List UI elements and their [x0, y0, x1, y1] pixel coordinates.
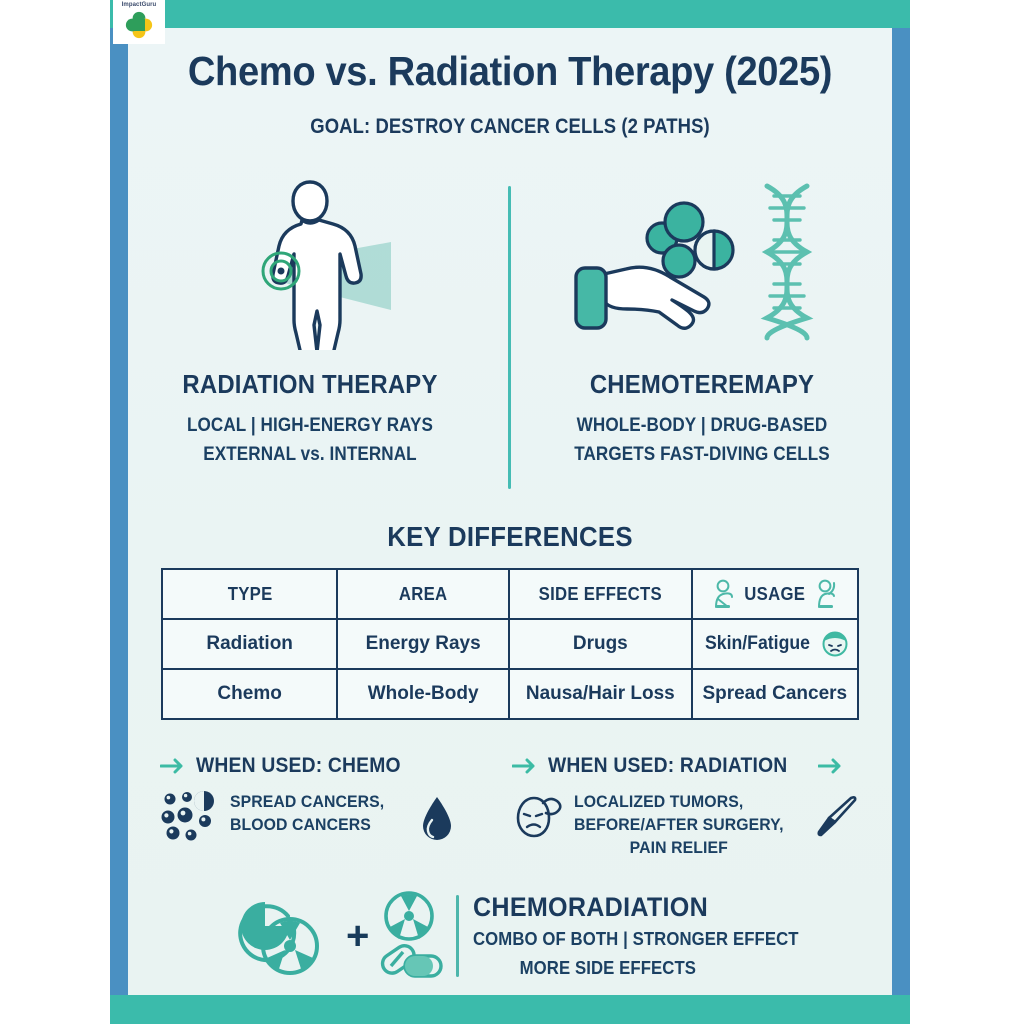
column-header-usage-label: USAGE	[744, 584, 805, 605]
sad-face-tumor-icon	[512, 790, 564, 842]
cell-usage-chemo: Spread Cancers	[692, 669, 858, 719]
column-header-area: AREA	[337, 569, 509, 619]
page-subtitle: GOAL: DESTROY CANCER CELLS (2 PATHS)	[174, 115, 846, 139]
cell-area-radiation: Energy Rays	[337, 619, 509, 669]
radiation-target-icon	[232, 894, 340, 978]
when-used-radiation-body: LOCALIZED TUMORS, BEFORE/AFTER SURGERY, …	[512, 790, 882, 859]
key-differences-table: TYPE AREA SIDE EFFECTS USAGE	[161, 568, 859, 720]
key-differences-title: KEY DIFFERENCES	[159, 521, 862, 553]
table-row: Chemo Whole-Body Nausa/Hair Loss Spread …	[162, 669, 858, 719]
when-used-radiation-lines: LOCALIZED TUMORS, BEFORE/AFTER SURGERY, …	[574, 790, 784, 859]
sad-face-icon	[821, 630, 849, 658]
when-used-chemo-heading-text: WHEN USED: CHEMO	[196, 754, 401, 778]
cell-side-effects-radiation: Drugs	[509, 619, 692, 669]
page-title: Chemo vs. Radiation Therapy (2025)	[155, 48, 866, 95]
radiation-line-1: LOCAL | HIGH-ENERGY RAYS	[148, 411, 472, 440]
poster-canvas: ImpactGuru Chemo vs. Radiation Therapy (…	[0, 0, 1024, 1024]
when-used-chemo-block: WHEN USED: CHEMO SPREAD CANCERS, BLOOD C…	[160, 754, 510, 844]
when-used-radiation-line-2: BEFORE/AFTER SURGERY,	[574, 815, 784, 834]
person-sitting-icon	[711, 579, 735, 609]
when-used-chemo-lines: SPREAD CANCERS, BLOOD CANCERS	[230, 790, 384, 836]
brand-logo-text: ImpactGuru	[122, 2, 157, 9]
chemoradiation-divider	[456, 895, 459, 977]
blood-drop-icon	[420, 794, 454, 844]
column-header-usage: USAGE	[692, 569, 858, 619]
right-blue-rail	[892, 28, 910, 995]
column-header-side-effects: SIDE EFFECTS	[509, 569, 692, 619]
pills-icon	[379, 942, 441, 977]
cell-type-chemo: Chemo	[162, 669, 337, 719]
when-used-radiation-line-1: LOCALIZED TUMORS,	[574, 792, 743, 811]
column-divider	[508, 186, 511, 489]
chemoradiation-block: + CHEMORADIATION COMBO OF BOTH | STRONGE…	[232, 890, 832, 982]
when-used-chemo-heading: WHEN USED: CHEMO	[160, 754, 510, 778]
column-header-side-effects-label: SIDE EFFECTS	[539, 584, 662, 605]
bottom-teal-band	[110, 995, 910, 1024]
column-header-type-label: TYPE	[227, 584, 272, 605]
scalpel-icon	[817, 796, 861, 842]
radiation-symbol-icon	[375, 890, 445, 982]
when-used-chemo-line-2: BLOOD CANCERS	[230, 815, 371, 834]
hand-pills-dna-icon	[522, 165, 882, 355]
chemo-line-2: TARGETS FAST-DIVING CELLS	[540, 440, 864, 469]
table-row: Radiation Energy Rays Drugs Skin/Fatigue	[162, 619, 858, 669]
cell-usage-radiation: Skin/Fatigue	[692, 619, 858, 669]
cancer-cells-icon	[160, 790, 220, 844]
body-radiation-beam-icon	[130, 165, 490, 355]
chemoradiation-icons: +	[232, 890, 450, 982]
chemoradiation-line-2: MORE SIDE EFFECTS	[473, 956, 743, 981]
table-header-row: TYPE AREA SIDE EFFECTS USAGE	[162, 569, 858, 619]
chemoradiation-line-1: COMBO OF BOTH | STRONGER EFFECT	[473, 927, 807, 952]
plus-symbol: +	[346, 916, 369, 956]
when-used-chemo-body: SPREAD CANCERS, BLOOD CANCERS	[160, 790, 510, 844]
column-header-type: TYPE	[162, 569, 337, 619]
column-header-area-label: AREA	[399, 584, 448, 605]
cell-side-effects-chemo: Nausa/Hair Loss	[509, 669, 692, 719]
cell-area-chemo: Whole-Body	[337, 669, 509, 719]
chemo-description: WHOLE-BODY | DRUG-BASED TARGETS FAST-DIV…	[522, 411, 882, 469]
brand-logo: ImpactGuru	[113, 0, 165, 44]
radiation-heading: RADIATION THERAPY	[144, 369, 475, 400]
chemo-line-1: WHOLE-BODY | DRUG-BASED	[540, 411, 864, 440]
cell-usage-radiation-label: Skin/Fatigue	[705, 633, 810, 655]
radiation-description: LOCAL | HIGH-ENERGY RAYS EXTERNAL vs. IN…	[130, 411, 490, 469]
radiation-line-2: EXTERNAL vs. INTERNAL	[148, 440, 472, 469]
arrow-right-icon	[818, 758, 844, 774]
when-used-radiation-heading: WHEN USED: RADIATION	[512, 754, 882, 778]
when-used-radiation-line-3: PAIN RELIEF	[574, 836, 784, 859]
comparison-column-radiation: RADIATION THERAPY LOCAL | HIGH-ENERGY RA…	[130, 165, 490, 469]
arrow-right-icon	[512, 758, 538, 774]
when-used-radiation-heading-text: WHEN USED: RADIATION	[548, 754, 787, 778]
arrow-right-icon	[160, 758, 186, 774]
chemo-heading: CHEMOTEREMAPY	[536, 369, 867, 400]
left-blue-rail	[110, 28, 128, 995]
comparison-column-chemo: CHEMOTEREMAPY WHOLE-BODY | DRUG-BASED TA…	[522, 165, 882, 469]
chemoradiation-heading: CHEMORADIATION	[473, 892, 807, 923]
when-used-radiation-block: WHEN USED: RADIATION LOCALIZED TUMORS, B…	[512, 754, 882, 859]
when-used-chemo-line-1: SPREAD CANCERS,	[230, 792, 384, 811]
top-teal-band	[110, 0, 910, 28]
cross-plus-logo-icon	[124, 10, 154, 40]
cell-type-radiation: Radiation	[162, 619, 337, 669]
chemoradiation-text: CHEMORADIATION COMBO OF BOTH | STRONGER …	[473, 892, 832, 981]
person-raising-hand-icon	[815, 579, 839, 609]
